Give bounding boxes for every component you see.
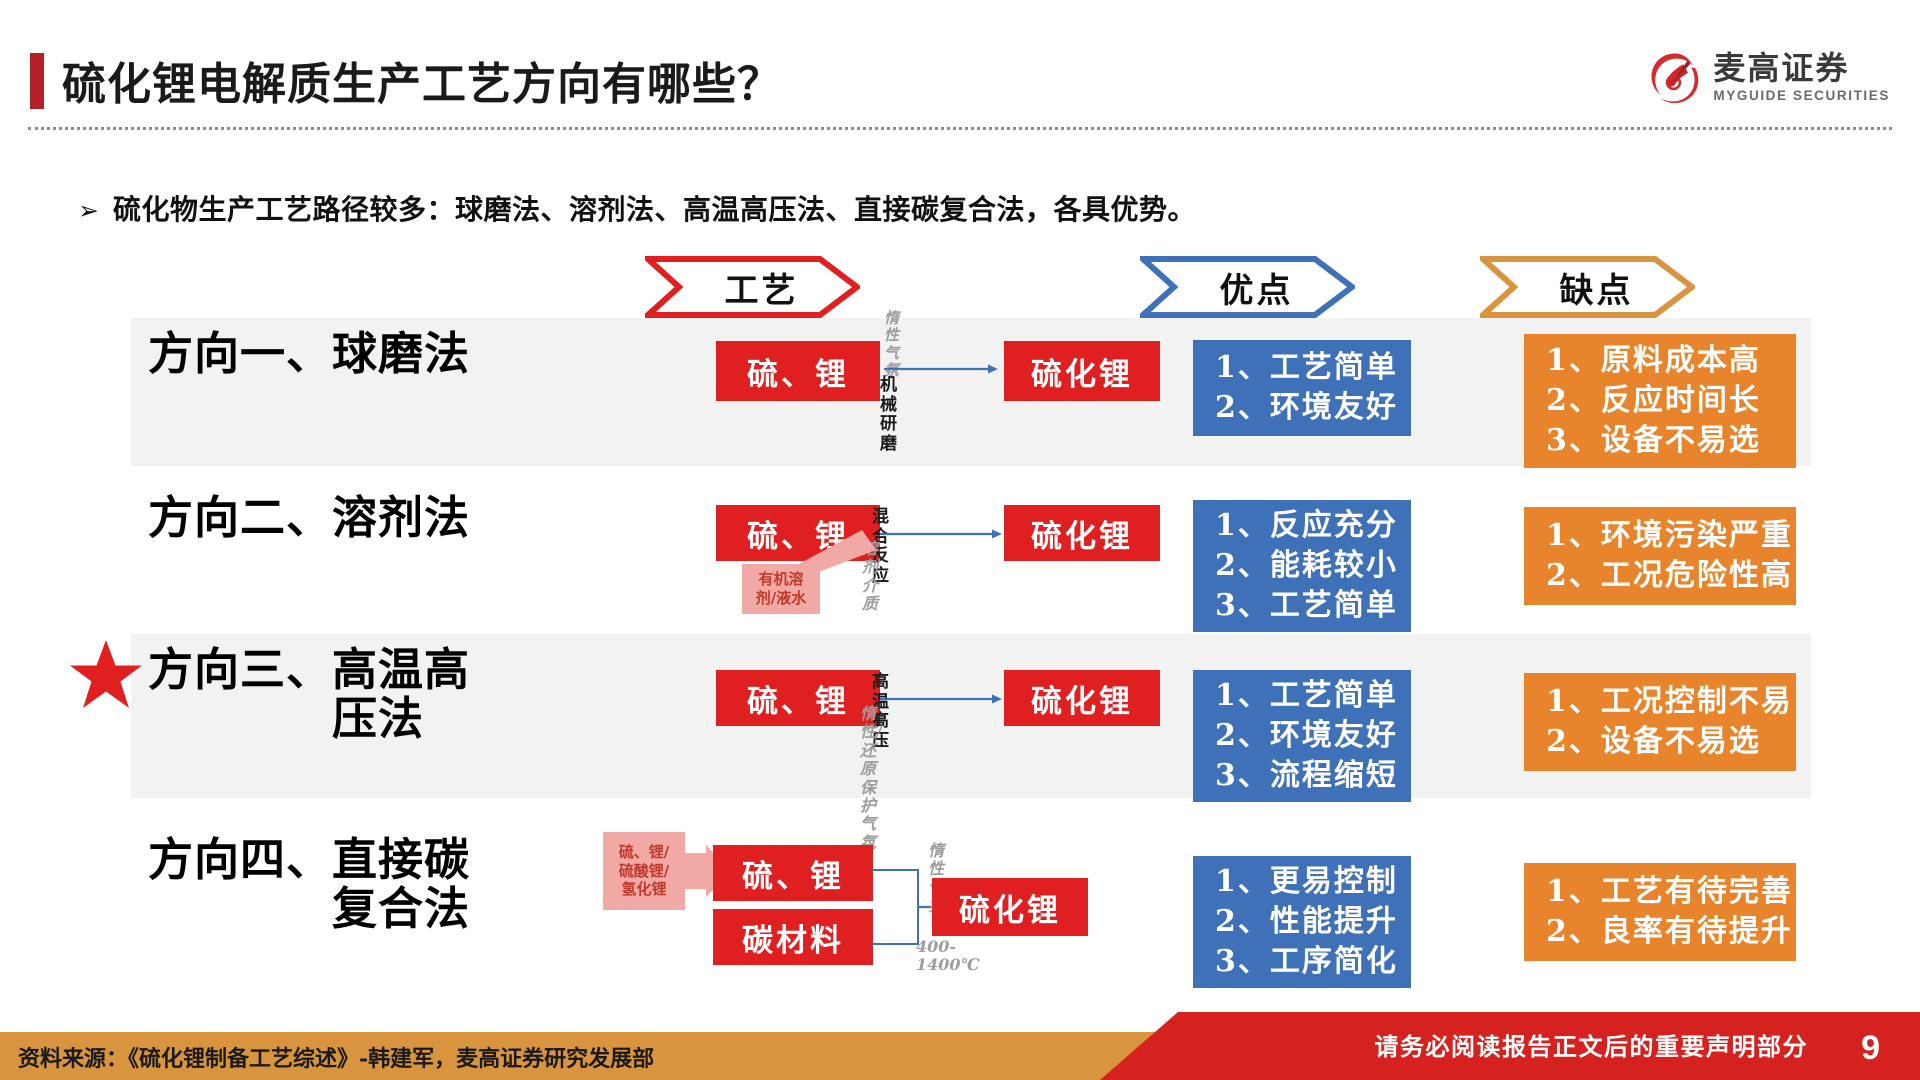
process-4-input-box: 硫、锂 (713, 845, 873, 901)
direction-name-3: 高温高压法 (332, 646, 507, 743)
direction-label-1: 方向一、 球磨法 (148, 330, 470, 379)
cons-item: 1、原料成本高 (1546, 341, 1796, 381)
logo-name-cn: 麦高证券 (1713, 52, 1890, 84)
direction-name-4: 直接碳复合法 (332, 836, 507, 933)
direction-name-2: 溶剂法 (332, 494, 470, 543)
process-1-below-label: 机械研磨 (880, 376, 897, 454)
company-logo: 麦高证券 MYGUIDE SECURITIES (1649, 46, 1890, 108)
page-title: 硫化锂电解质生产工艺方向有哪些？ (62, 48, 782, 112)
direction-name-1: 球磨法 (332, 330, 470, 379)
process-3-arrow-icon (880, 692, 1004, 706)
footer-disclaimer-text: 请务必阅读报告正文后的重要声明部分 (1375, 1027, 1809, 1062)
pros-item: 1、更易控制 (1215, 862, 1411, 902)
pros-item: 3、工艺简单 (1215, 586, 1411, 626)
cons-box-2: 1、环境污染严重 2、工况危险性高 (1524, 507, 1796, 605)
slide: 硫化锂电解质生产工艺方向有哪些？ 麦高证券 MYGUIDE SECURITIES… (0, 0, 1920, 1080)
pros-item: 2、环境友好 (1215, 388, 1411, 428)
direction-no-3: 方向三、 (148, 646, 332, 695)
direction-label-4: 方向四、 直接碳复合法 (148, 836, 507, 933)
column-header-process: 工艺 (645, 256, 860, 318)
process-2-output-label: 硫化锂 (1031, 511, 1133, 556)
cons-item: 2、设备不易选 (1546, 722, 1796, 762)
process-4-input2-box: 碳材料 (713, 909, 873, 965)
cons-item: 1、环境污染严重 (1546, 516, 1796, 556)
direction-label-2: 方向二、 溶剂法 (148, 494, 470, 543)
myguide-swirl-icon (1649, 51, 1701, 103)
cons-item: 1、工艺有待完善 (1546, 872, 1796, 912)
pros-item: 3、工序简化 (1215, 942, 1411, 982)
lead-bullet: ➢ 硫化物生产工艺路径较多：球磨法、溶剂法、高温高压法、直接碳复合法，各具优势。 (78, 188, 1196, 228)
title-accent-bar (30, 53, 44, 109)
process-2-aux-box: 有机溶 剂/液水 (742, 564, 820, 614)
page-number: 9 (1861, 1029, 1880, 1068)
process-1-output-box: 硫化锂 (1004, 341, 1160, 401)
process-2-output-box: 硫化锂 (1004, 505, 1160, 561)
bullet-arrow-icon: ➢ (78, 199, 99, 224)
pros-item: 2、环境友好 (1215, 716, 1411, 756)
pros-box-3: 1、工艺简单 2、环境友好 3、流程缩短 (1193, 670, 1411, 802)
cons-item: 2、工况危险性高 (1546, 556, 1796, 596)
direction-label-3: 方向三、 高温高压法 (148, 646, 507, 743)
pros-box-2: 1、反应充分 2、能耗较小 3、工艺简单 (1193, 500, 1411, 632)
pros-box-4: 1、更易控制 2、性能提升 3、工序简化 (1193, 856, 1411, 988)
pros-item: 1、反应充分 (1215, 506, 1411, 546)
pros-item: 2、性能提升 (1215, 902, 1411, 942)
process-1-arrow-icon (884, 362, 1000, 376)
direction-no-2: 方向二、 (148, 494, 332, 543)
process-2-arrow-icon (880, 527, 1004, 541)
cons-box-1: 1、原料成本高 2、反应时间长 3、设备不易选 (1524, 334, 1796, 468)
process-1-output-label: 硫化锂 (1031, 349, 1133, 394)
process-3-below-label: 惰性/还原 保护气氛 (860, 705, 882, 852)
process-1-input-box: 硫、锂 (716, 341, 880, 401)
direction-no-1: 方向一、 (148, 330, 332, 379)
footer-source: 资料来源：《硫化锂制备工艺综述》-韩建军，麦高证券研究发展部 (18, 1041, 654, 1073)
process-3-output-label: 硫化锂 (1031, 676, 1133, 721)
column-header-cons-label: 缺点 (1542, 263, 1634, 312)
pros-box-1: 1、工艺简单 2、环境友好 (1193, 340, 1411, 436)
lead-bullet-text: 硫化物生产工艺路径较多：球磨法、溶剂法、高温高压法、直接碳复合法，各具优势。 (113, 188, 1196, 228)
pros-item: 1、工艺简单 (1215, 676, 1411, 716)
pros-item: 3、流程缩短 (1215, 756, 1411, 796)
pros-item: 2、能耗较小 (1215, 546, 1411, 586)
cons-item: 3、设备不易选 (1546, 421, 1796, 461)
cons-item: 1、工况控制不易 (1546, 682, 1796, 722)
direction-no-4: 方向四、 (148, 836, 332, 885)
process-4-input2-label: 碳材料 (742, 915, 844, 960)
highlight-star-icon (68, 638, 144, 710)
process-4-input-label: 硫、锂 (742, 851, 844, 896)
column-header-process-label: 工艺 (707, 263, 799, 312)
cons-box-4: 1、工艺有待完善 2、良率有待提升 (1524, 863, 1796, 961)
process-4-output-box: 硫化锂 (932, 878, 1088, 936)
pros-item: 1、工艺简单 (1215, 348, 1411, 388)
column-header-pros: 优点 (1140, 256, 1355, 318)
logo-name-en: MYGUIDE SECURITIES (1713, 89, 1890, 103)
header-divider (28, 127, 1892, 130)
process-1-input-label: 硫、锂 (747, 349, 849, 394)
process-3-output-box: 硫化锂 (1004, 670, 1160, 726)
cons-item: 2、反应时间长 (1546, 381, 1796, 421)
column-header-cons: 缺点 (1480, 256, 1695, 318)
cons-item: 2、良率有待提升 (1546, 912, 1796, 952)
process-3-input-box: 硫、锂 (716, 670, 880, 726)
column-header-pros-label: 优点 (1202, 263, 1294, 312)
process-4-output-label: 硫化锂 (959, 885, 1061, 930)
process-4-below-label: 400-1400℃ (916, 938, 980, 975)
process-3-input-label: 硫、锂 (747, 676, 849, 721)
cons-box-3: 1、工况控制不易 2、设备不易选 (1524, 673, 1796, 771)
